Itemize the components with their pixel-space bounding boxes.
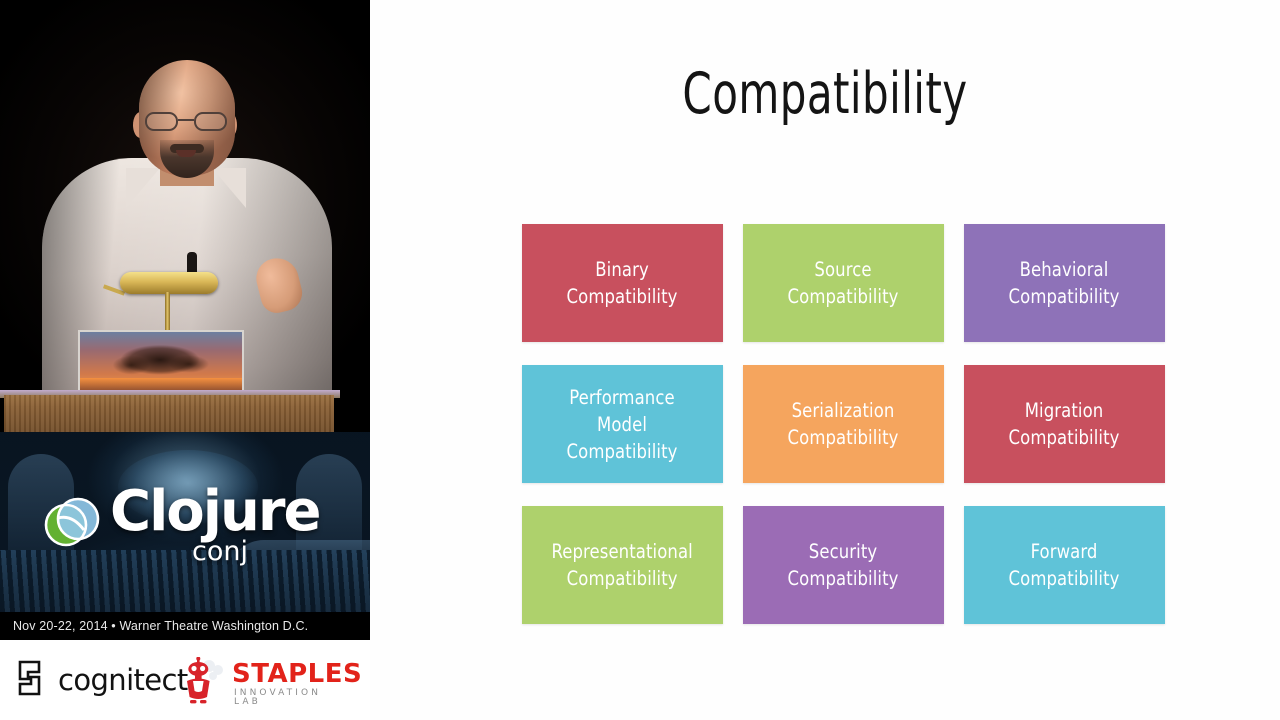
staples-wordmark: STAPLES <box>232 661 362 687</box>
glasses-bridge <box>178 119 194 121</box>
speaker-video-feed[interactable] <box>0 0 370 432</box>
podium-wood-grain <box>4 395 334 432</box>
card-label: SerializationCompatibility <box>784 397 902 451</box>
conj-wordmark: conj <box>192 538 248 565</box>
sponsor-logo-bar: cognitect <box>0 640 370 720</box>
cognitect-wordmark: cognitect <box>58 666 188 695</box>
slide-area: Compatibility BinaryCompatibilitySourceC… <box>370 0 1280 720</box>
shirt-collar-right <box>212 168 246 208</box>
clojure-conj-logo: Clojure conj <box>44 488 334 580</box>
card-label: RepresentationalCompatibility <box>547 538 697 592</box>
lens-right <box>194 112 227 131</box>
card-performance-model-compatibility[interactable]: PerformanceModelCompatibility <box>522 365 723 483</box>
card-label: MigrationCompatibility <box>1005 397 1123 451</box>
card-representational-compatibility[interactable]: RepresentationalCompatibility <box>522 506 723 624</box>
staples-innovation-lab-logo[interactable]: STAPLES INNOVATION LAB <box>178 657 350 705</box>
eyeglasses-icon <box>144 112 230 132</box>
card-behavioral-compatibility[interactable]: BehavioralCompatibility <box>964 224 1165 342</box>
card-label: PerformanceModelCompatibility <box>563 384 681 465</box>
card-label: SourceCompatibility <box>784 256 902 310</box>
event-date-location-caption: Nov 20-22, 2014 • Warner Theatre Washing… <box>0 612 370 640</box>
cognitect-mark-icon <box>18 660 49 701</box>
staples-tagline: INNOVATION LAB <box>234 689 350 707</box>
card-label: ForwardCompatibility <box>1005 538 1123 592</box>
presentation-recording-frame: Clojure conj Nov 20-22, 2014 • Warner Th… <box>0 0 1280 720</box>
card-label: BinaryCompatibility <box>563 256 681 310</box>
clojure-conj-banner: Clojure conj <box>0 432 370 612</box>
card-security-compatibility[interactable]: SecurityCompatibility <box>743 506 944 624</box>
card-label: BehavioralCompatibility <box>1005 256 1123 310</box>
clojure-wordmark: Clojure <box>110 484 319 540</box>
podium-lamp-shade <box>120 272 218 294</box>
shirt-collar-left <box>126 168 160 208</box>
card-migration-compatibility[interactable]: MigrationCompatibility <box>964 365 1165 483</box>
card-serialization-compatibility[interactable]: SerializationCompatibility <box>743 365 944 483</box>
laptop-wallpaper-tree <box>100 338 220 390</box>
card-forward-compatibility[interactable]: ForwardCompatibility <box>964 506 1165 624</box>
slide-title: Compatibility <box>452 63 1198 125</box>
card-binary-compatibility[interactable]: BinaryCompatibility <box>522 224 723 342</box>
clojure-logo-icon <box>44 494 100 550</box>
compatibility-card-grid: BinaryCompatibilitySourceCompatibilityBe… <box>522 224 1166 624</box>
cognitect-logo[interactable]: cognitect <box>18 662 188 698</box>
lens-left <box>145 112 178 131</box>
card-label: SecurityCompatibility <box>784 538 902 592</box>
left-column: Clojure conj Nov 20-22, 2014 • Warner Th… <box>0 0 370 720</box>
card-source-compatibility[interactable]: SourceCompatibility <box>743 224 944 342</box>
